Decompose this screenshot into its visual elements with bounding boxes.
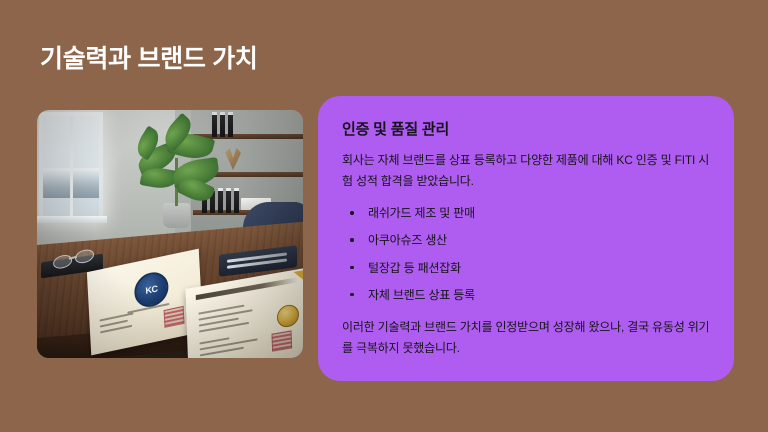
list-item-label: 털장갑 등 패션잡화: [368, 261, 461, 275]
card-heading: 인증 및 품질 관리: [342, 118, 710, 139]
list-item-label: 자체 브랜드 상표 등록: [368, 288, 475, 302]
cert-stamp: [164, 306, 185, 328]
binder-icon: [218, 188, 223, 213]
binder-icon: [234, 188, 239, 213]
card-bullet-list: 래쉬가드 제조 및 판매 아쿠아슈즈 생산 털장갑 등 패션잡화 자체 브랜드 …: [342, 204, 710, 305]
bullet-dot-icon: [350, 211, 354, 215]
photo-scene: KC: [37, 110, 303, 358]
gold-seal-icon: [277, 303, 300, 329]
list-item: 래쉬가드 제조 및 판매: [342, 204, 710, 223]
window-icon: [39, 112, 103, 220]
window-mullion-horizontal: [43, 168, 99, 171]
window-mullion-vertical: [70, 116, 73, 216]
plant-pot: [163, 203, 190, 228]
window-glass: [43, 116, 99, 216]
binder-icon: [212, 112, 217, 137]
window-sill: [37, 216, 107, 223]
bullet-dot-icon: [350, 266, 354, 270]
card-intro-paragraph: 회사는 자체 브랜드를 상표 등록하고 다양한 제품에 대해 KC 인증 및 F…: [342, 150, 710, 191]
page-title: 기술력과 브랜드 가치: [40, 45, 258, 74]
binder-icon: [226, 188, 231, 213]
list-item: 아쿠아슈즈 생산: [342, 231, 710, 250]
office-photo: KC: [37, 110, 303, 358]
bullet-dot-icon: [350, 293, 354, 297]
cert-corner-ornament: [293, 270, 303, 284]
presentation-slide: 기술력과 브랜드 가치: [0, 0, 768, 432]
cert-text-line: [99, 312, 133, 321]
list-item: 털장갑 등 패션잡화: [342, 259, 710, 278]
binder-icon: [220, 112, 225, 137]
binder-icon: [228, 112, 233, 137]
list-item-label: 아쿠아슈즈 생산: [368, 233, 447, 247]
card-closing-paragraph: 이러한 기술력과 브랜드 가치를 인정받으며 성장해 왔으나, 결국 유동성 위…: [342, 317, 710, 358]
bullet-dot-icon: [350, 238, 354, 242]
list-item-label: 래쉬가드 제조 및 판매: [368, 206, 475, 220]
content-card: 인증 및 품질 관리 회사는 자체 브랜드를 상표 등록하고 다양한 제품에 대…: [318, 96, 734, 381]
list-item: 자체 브랜드 상표 등록: [342, 286, 710, 305]
cert-stamp: [272, 330, 293, 351]
